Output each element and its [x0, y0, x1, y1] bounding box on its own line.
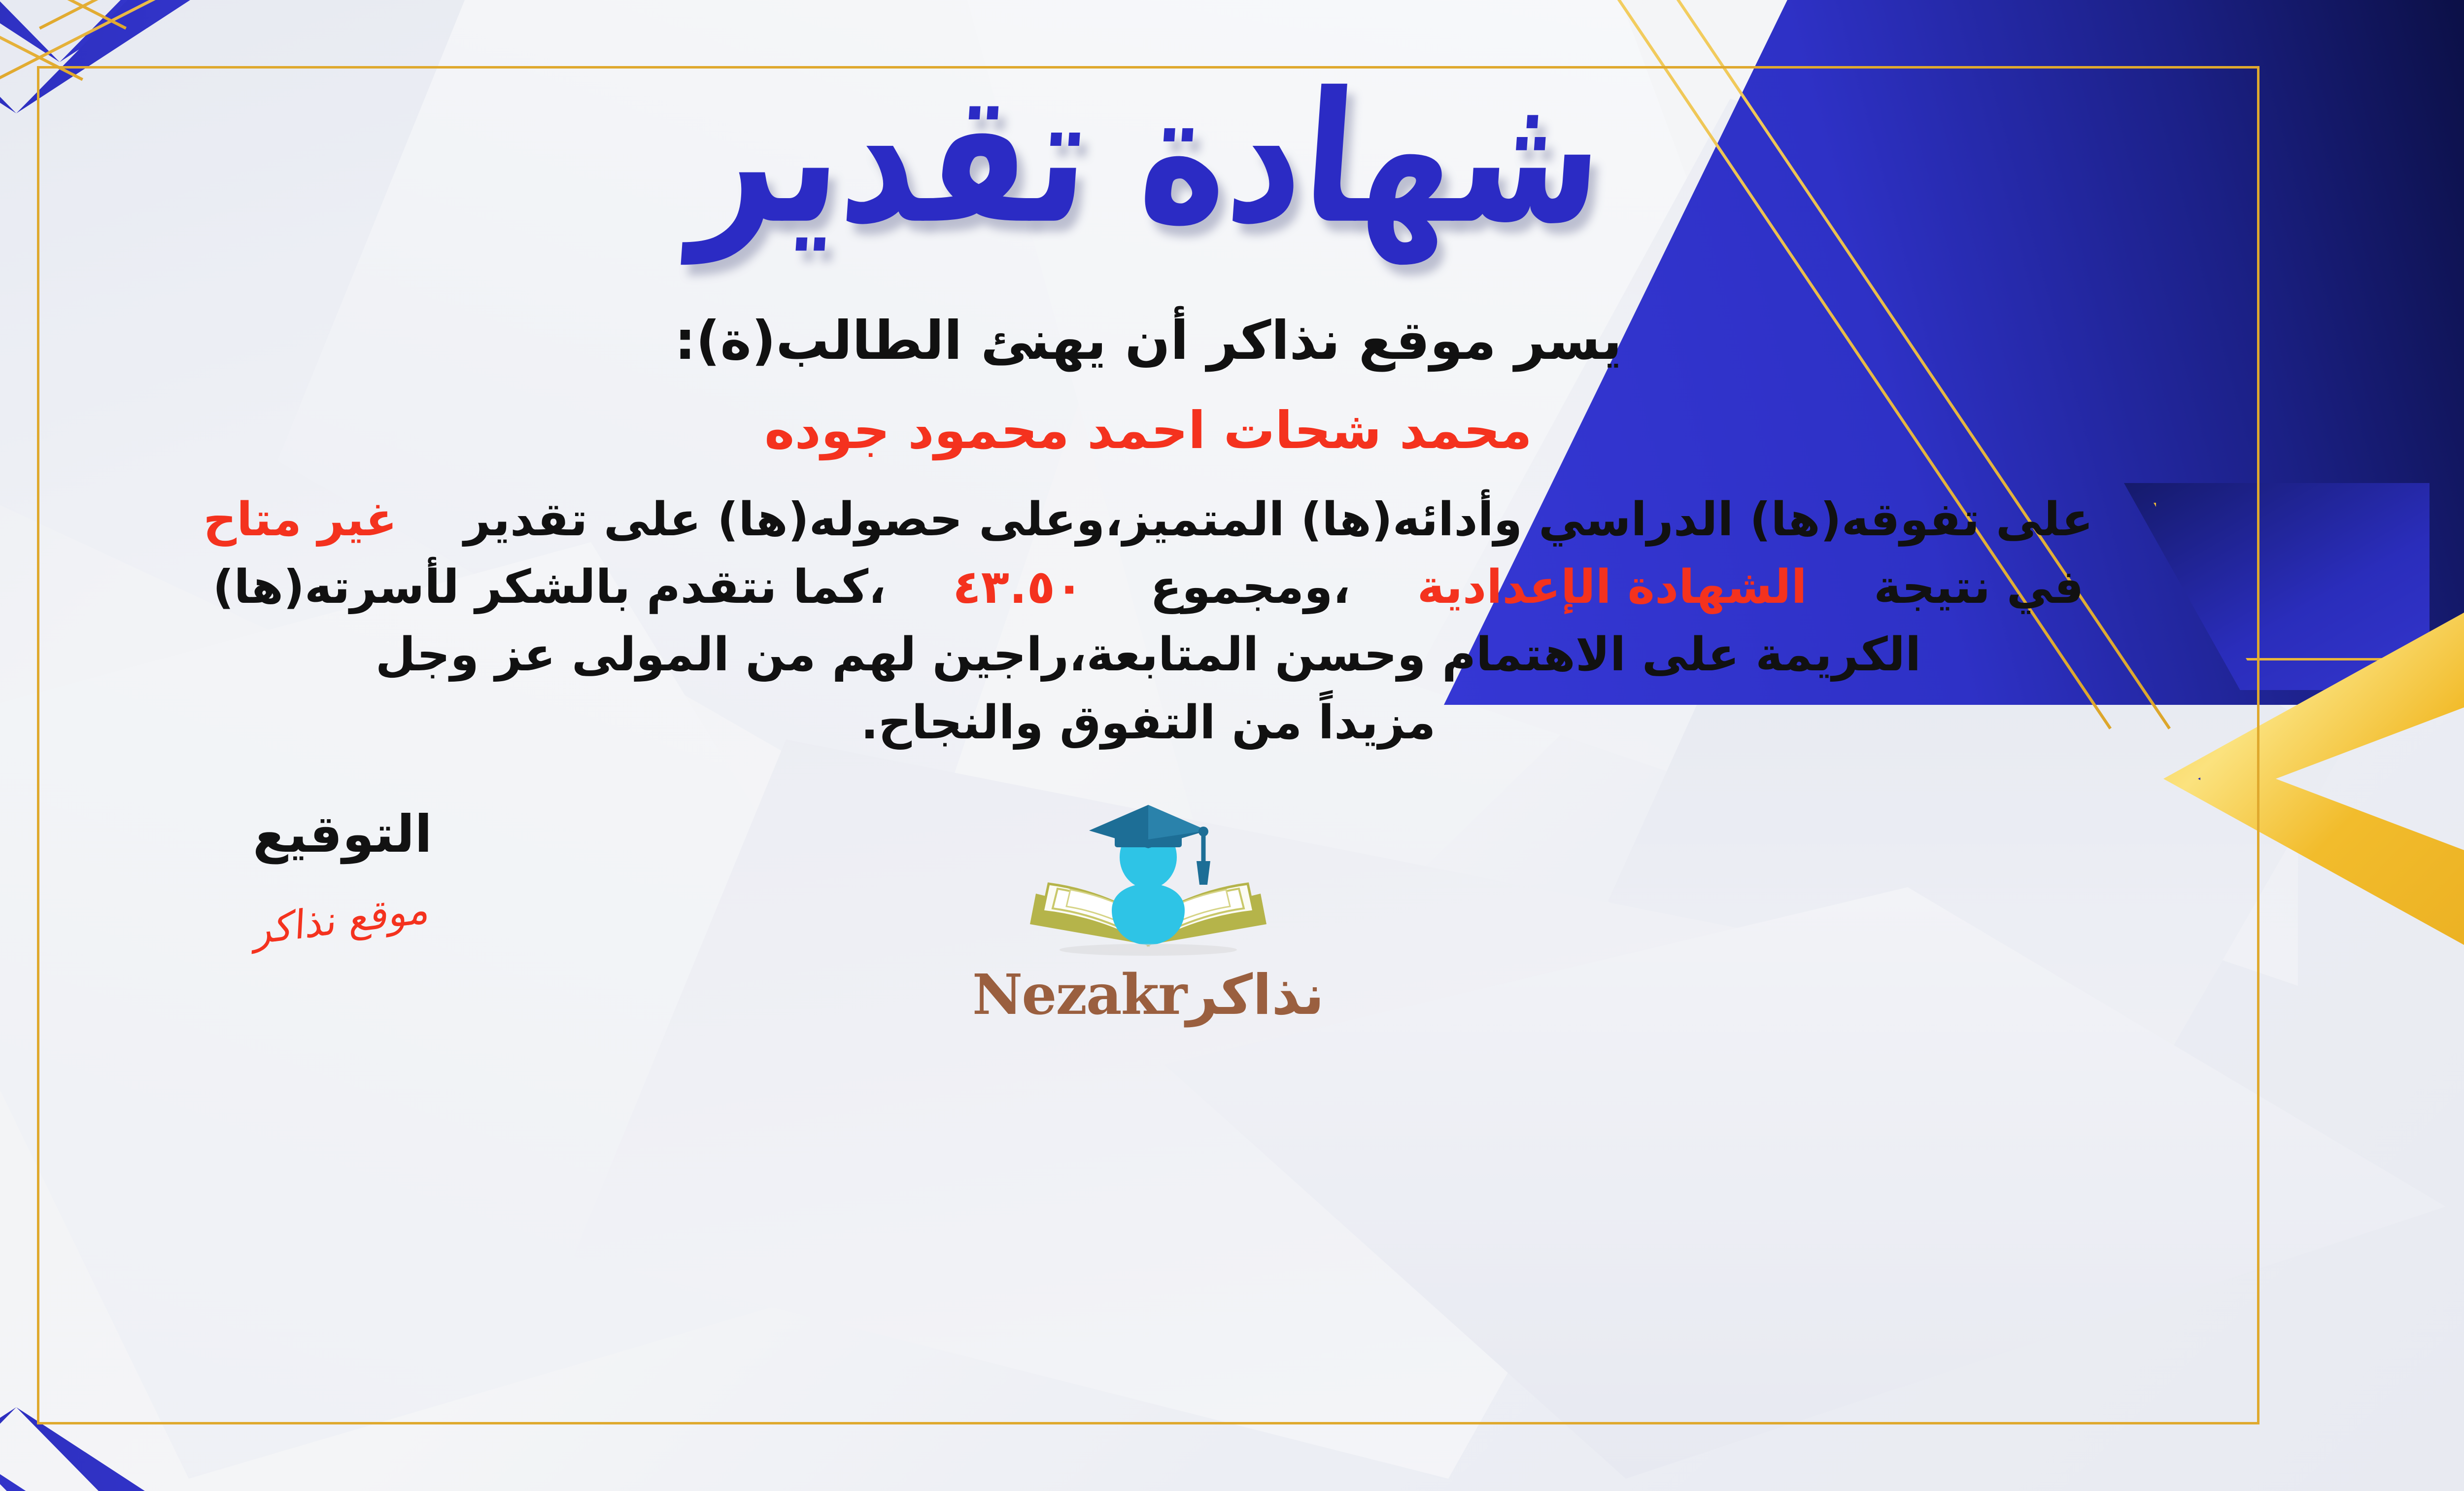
body-line-2-suffix: ،كما نتقدم بالشكر لأسرته(ها) [213, 560, 886, 614]
exam-name: الشهادة الإعدادية [1417, 560, 1807, 614]
greeting-line: يسر موقع نذاكر أن يهنئ الطالب(ة): [675, 310, 1622, 372]
certificate-content: شهادة تقدير يسر موقع نذاكر أن يهنئ الطال… [37, 66, 2259, 1424]
body-line-2-prefix: في نتيجة [1874, 560, 2084, 614]
body-line-3: الكريمة على الاهتمام وحسن المتابعة،راجين… [69, 621, 2227, 689]
graduate-book-logo-icon [1010, 797, 1286, 960]
body-line-1-text: على تفوقه(ها) الدراسي وأدائه(ها) المتميز… [464, 493, 2093, 547]
grade-value: غير متاح [203, 493, 397, 547]
body-line-1: على تفوقه(ها) الدراسي وأدائه(ها) المتميز… [69, 486, 2227, 554]
student-name: محمد شحات احمد محمود جوده [764, 400, 1532, 460]
brand-logo-arabic: نذاكر [1186, 963, 1324, 1027]
brand-logo: Nezakrنذاكر [961, 797, 1335, 1027]
brand-logo-latin: Nezakr [972, 963, 1186, 1027]
body-line-2-total-label: ،ومجموع [1150, 560, 1350, 614]
score-value: ٤٣.٥٠ [953, 560, 1083, 614]
body-line-4: مزيداً من التفوق والنجاح. [69, 689, 2227, 757]
signature-label: التوقيع [205, 804, 480, 864]
certificate-body: على تفوقه(ها) الدراسي وأدائه(ها) المتميز… [69, 486, 2227, 757]
signature-block: التوقيع موقع نذاكر [205, 804, 480, 942]
certificate-footer: التوقيع موقع نذاكر [37, 804, 2259, 1060]
certificate-title: شهادة تقدير [687, 64, 1608, 253]
certificate-canvas: شهادة تقدير يسر موقع نذاكر أن يهنئ الطال… [0, 0, 2464, 1491]
signature-script: موقع نذاكر [253, 885, 431, 953]
body-line-2: في نتيجة الشهادة الإعدادية ،ومجموع ٤٣.٥٠… [69, 554, 2227, 621]
brand-logo-text: Nezakrنذاكر [961, 963, 1335, 1027]
